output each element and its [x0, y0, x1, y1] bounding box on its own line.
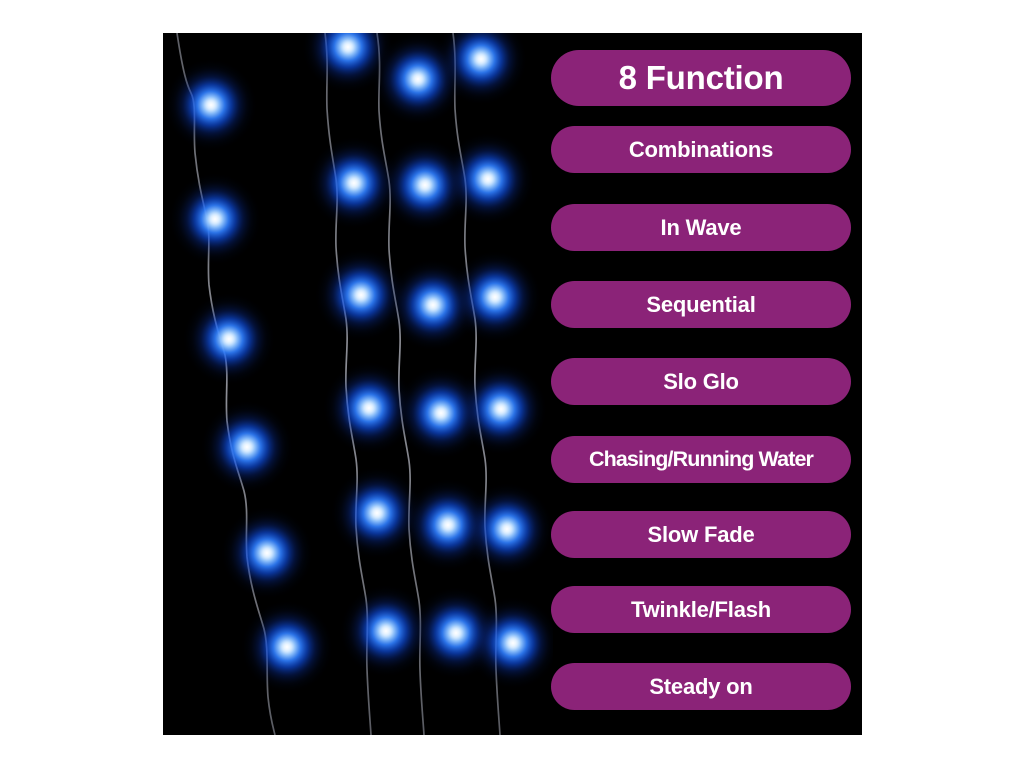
- function-pill-in-wave[interactable]: In Wave: [551, 204, 851, 251]
- led-bulb: [449, 251, 541, 343]
- function-list: 8 Function Combinations In Wave Sequenti…: [551, 33, 862, 735]
- product-image-panel: 8 Function Combinations In Wave Sequenti…: [163, 33, 862, 735]
- function-pill-combinations[interactable]: Combinations: [551, 126, 851, 173]
- function-pill-label: Chasing/Running Water: [589, 447, 813, 472]
- function-pill-steady-on[interactable]: Steady on: [551, 663, 851, 710]
- led-bulb: [169, 173, 261, 265]
- led-bulb: [455, 363, 547, 455]
- led-bulb: [201, 401, 293, 493]
- function-pill-label: Sequential: [646, 292, 755, 318]
- title-pill-label: 8 Function: [619, 59, 784, 97]
- function-pill-label: Combinations: [629, 137, 773, 163]
- function-pill-slo-glo[interactable]: Slo Glo: [551, 358, 851, 405]
- function-pill-label: Twinkle/Flash: [631, 597, 771, 623]
- function-pill-label: In Wave: [661, 215, 742, 241]
- function-pill-slow-fade[interactable]: Slow Fade: [551, 511, 851, 558]
- function-pill-twinkle-flash[interactable]: Twinkle/Flash: [551, 586, 851, 633]
- led-strings-svg: [163, 33, 553, 735]
- function-pill-label: Steady on: [649, 674, 752, 700]
- screenshot-canvas: 8 Function Combinations In Wave Sequenti…: [0, 0, 1024, 768]
- led-bulb: [221, 507, 313, 599]
- function-pill-label: Slow Fade: [648, 522, 755, 548]
- led-bulb: [165, 59, 257, 151]
- function-pill-chasing-running-water[interactable]: Chasing/Running Water: [551, 436, 851, 483]
- title-pill: 8 Function: [551, 50, 851, 106]
- led-bulb: [241, 601, 333, 693]
- led-light-string-photo: [163, 33, 553, 735]
- led-bulb: [183, 293, 275, 385]
- function-pill-label: Slo Glo: [663, 369, 739, 395]
- function-pill-sequential[interactable]: Sequential: [551, 281, 851, 328]
- led-bulb: [442, 133, 534, 225]
- led-bulb: [461, 483, 553, 575]
